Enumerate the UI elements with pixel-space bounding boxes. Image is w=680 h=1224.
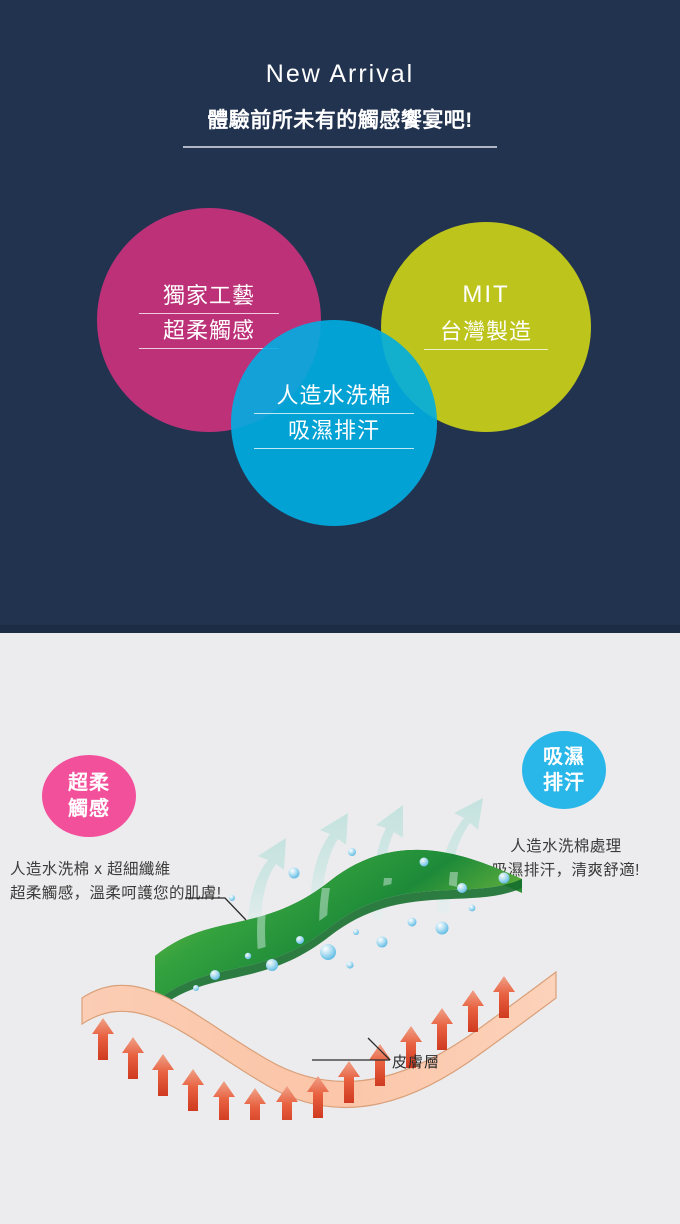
venn-lime-line2: 台灣製造: [381, 318, 591, 346]
droplet-icon: [469, 905, 476, 912]
venn-cyan-line1: 人造水洗棉: [231, 382, 437, 410]
venn-lime-line1: MIT: [381, 280, 591, 311]
droplet-icon: [193, 985, 199, 991]
droplet-icon: [320, 944, 336, 960]
promo-page: New Arrival 體驗前所未有的觸感饗宴吧! 獨家工藝 超柔觸感 MIT …: [0, 0, 680, 1224]
venn-label-cyan: 人造水洗棉 吸濕排汗: [231, 382, 437, 452]
droplet-icon: [377, 937, 388, 948]
venn-circle-washed-cotton[interactable]: 人造水洗棉 吸濕排汗: [231, 320, 437, 526]
skin-layer-label: 皮膚層: [392, 1051, 440, 1072]
venn-magenta-divider: [139, 313, 279, 314]
droplet-icon: [457, 883, 467, 893]
droplet-icon: [499, 873, 510, 884]
venn-lime-divider: [424, 349, 548, 350]
droplet-icon: [353, 929, 359, 935]
droplet-icon: [420, 858, 429, 867]
droplet-icon: [436, 922, 449, 935]
droplet-icon: [408, 918, 417, 927]
droplet-icon: [289, 868, 300, 879]
venn-magenta-line1: 獨家工藝: [97, 282, 321, 310]
sweat-arrow-icon: [431, 1008, 453, 1050]
droplet-icon: [266, 959, 278, 971]
fabric-layer: [155, 848, 522, 1011]
venn-diagram: 獨家工藝 超柔觸感 MIT 台灣製造 人造水洗棉 吸濕排汗: [0, 0, 680, 633]
droplet-icon: [348, 848, 356, 856]
droplet-icon: [245, 953, 251, 959]
venn-cyan-divider-2: [254, 448, 414, 449]
sweat-arrow-icon: [122, 1037, 144, 1079]
hero-section: New Arrival 體驗前所未有的觸感饗宴吧! 獨家工藝 超柔觸感 MIT …: [0, 0, 680, 633]
sweat-arrow-icon: [92, 1018, 114, 1060]
venn-cyan-divider: [254, 413, 414, 414]
hero-bottom-edge: [0, 625, 680, 633]
sweat-arrow-icon: [213, 1081, 235, 1120]
droplet-icon: [229, 895, 235, 901]
sweat-arrow-icon: [244, 1088, 266, 1120]
leader-line-fabric: [185, 898, 246, 920]
droplet-icon: [210, 970, 220, 980]
droplet-icon: [346, 961, 353, 968]
venn-magenta-divider-2: [139, 348, 279, 349]
venn-label-lime: MIT 台灣製造: [381, 280, 591, 353]
sweat-arrow-icon: [152, 1054, 174, 1096]
fabric-cross-section-diagram: [0, 760, 680, 1120]
sweat-arrow-icon: [182, 1069, 204, 1111]
sweat-arrow-icon: [462, 990, 484, 1032]
droplet-icon: [296, 936, 304, 944]
venn-cyan-line2: 吸濕排汗: [231, 417, 437, 445]
